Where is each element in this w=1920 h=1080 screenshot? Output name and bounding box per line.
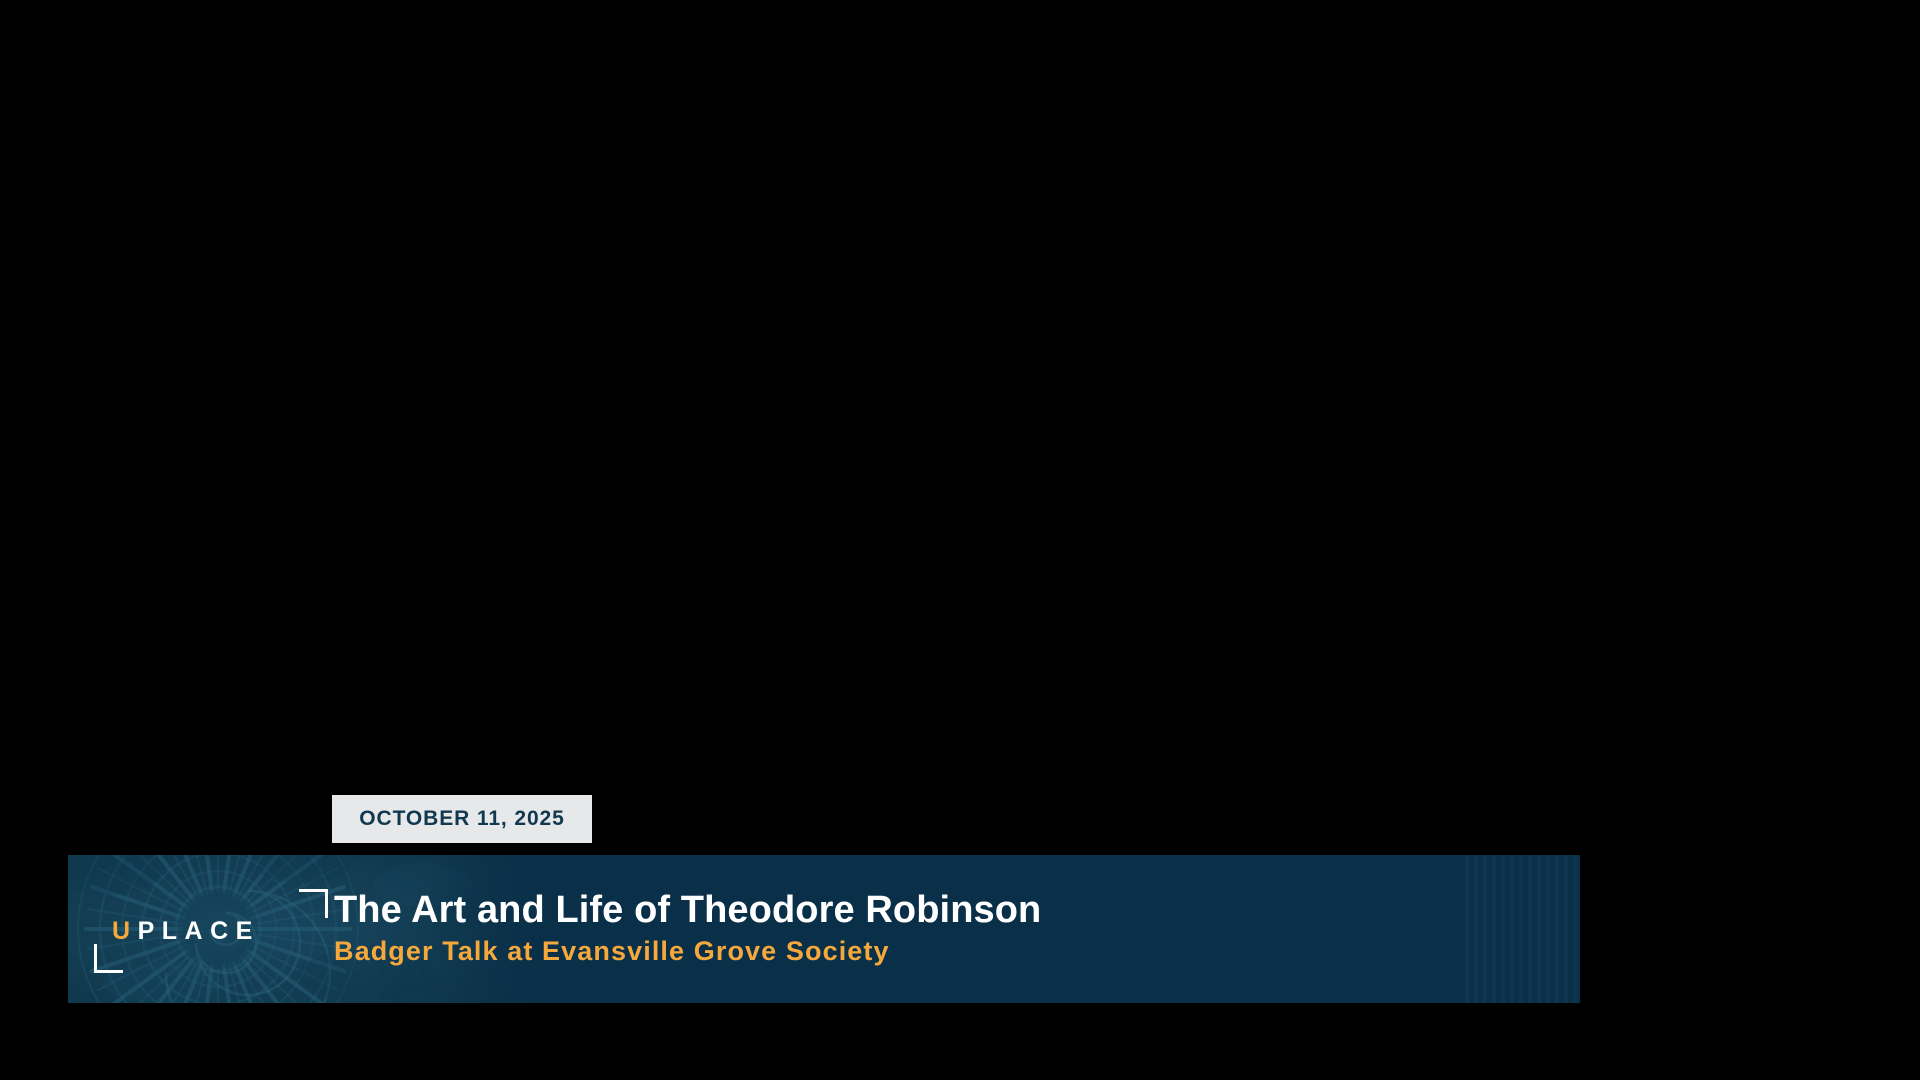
- event-subtitle: Badger Talk at Evansville Grove Society: [334, 937, 1041, 967]
- corner-bracket-bottom-left-icon: [94, 944, 123, 973]
- event-date-text: OCTOBER 11, 2025: [359, 807, 564, 831]
- event-date-badge: OCTOBER 11, 2025: [332, 795, 592, 843]
- logo-wordmark-rest: PLACE: [138, 917, 260, 945]
- event-text-block: The Art and Life of Theodore Robinson Ba…: [334, 855, 1041, 1003]
- event-banner[interactable]: UPLACE The Art and Life of Theodore Robi…: [68, 855, 1580, 1003]
- uplace-wordmark: UPLACE: [112, 919, 260, 944]
- event-title: The Art and Life of Theodore Robinson: [334, 891, 1041, 931]
- logo-letter-u: U: [112, 917, 138, 945]
- uplace-logo[interactable]: UPLACE: [86, 885, 336, 977]
- banner-stripe-artifact: [1460, 855, 1580, 1003]
- corner-bracket-top-right-icon: [299, 889, 328, 918]
